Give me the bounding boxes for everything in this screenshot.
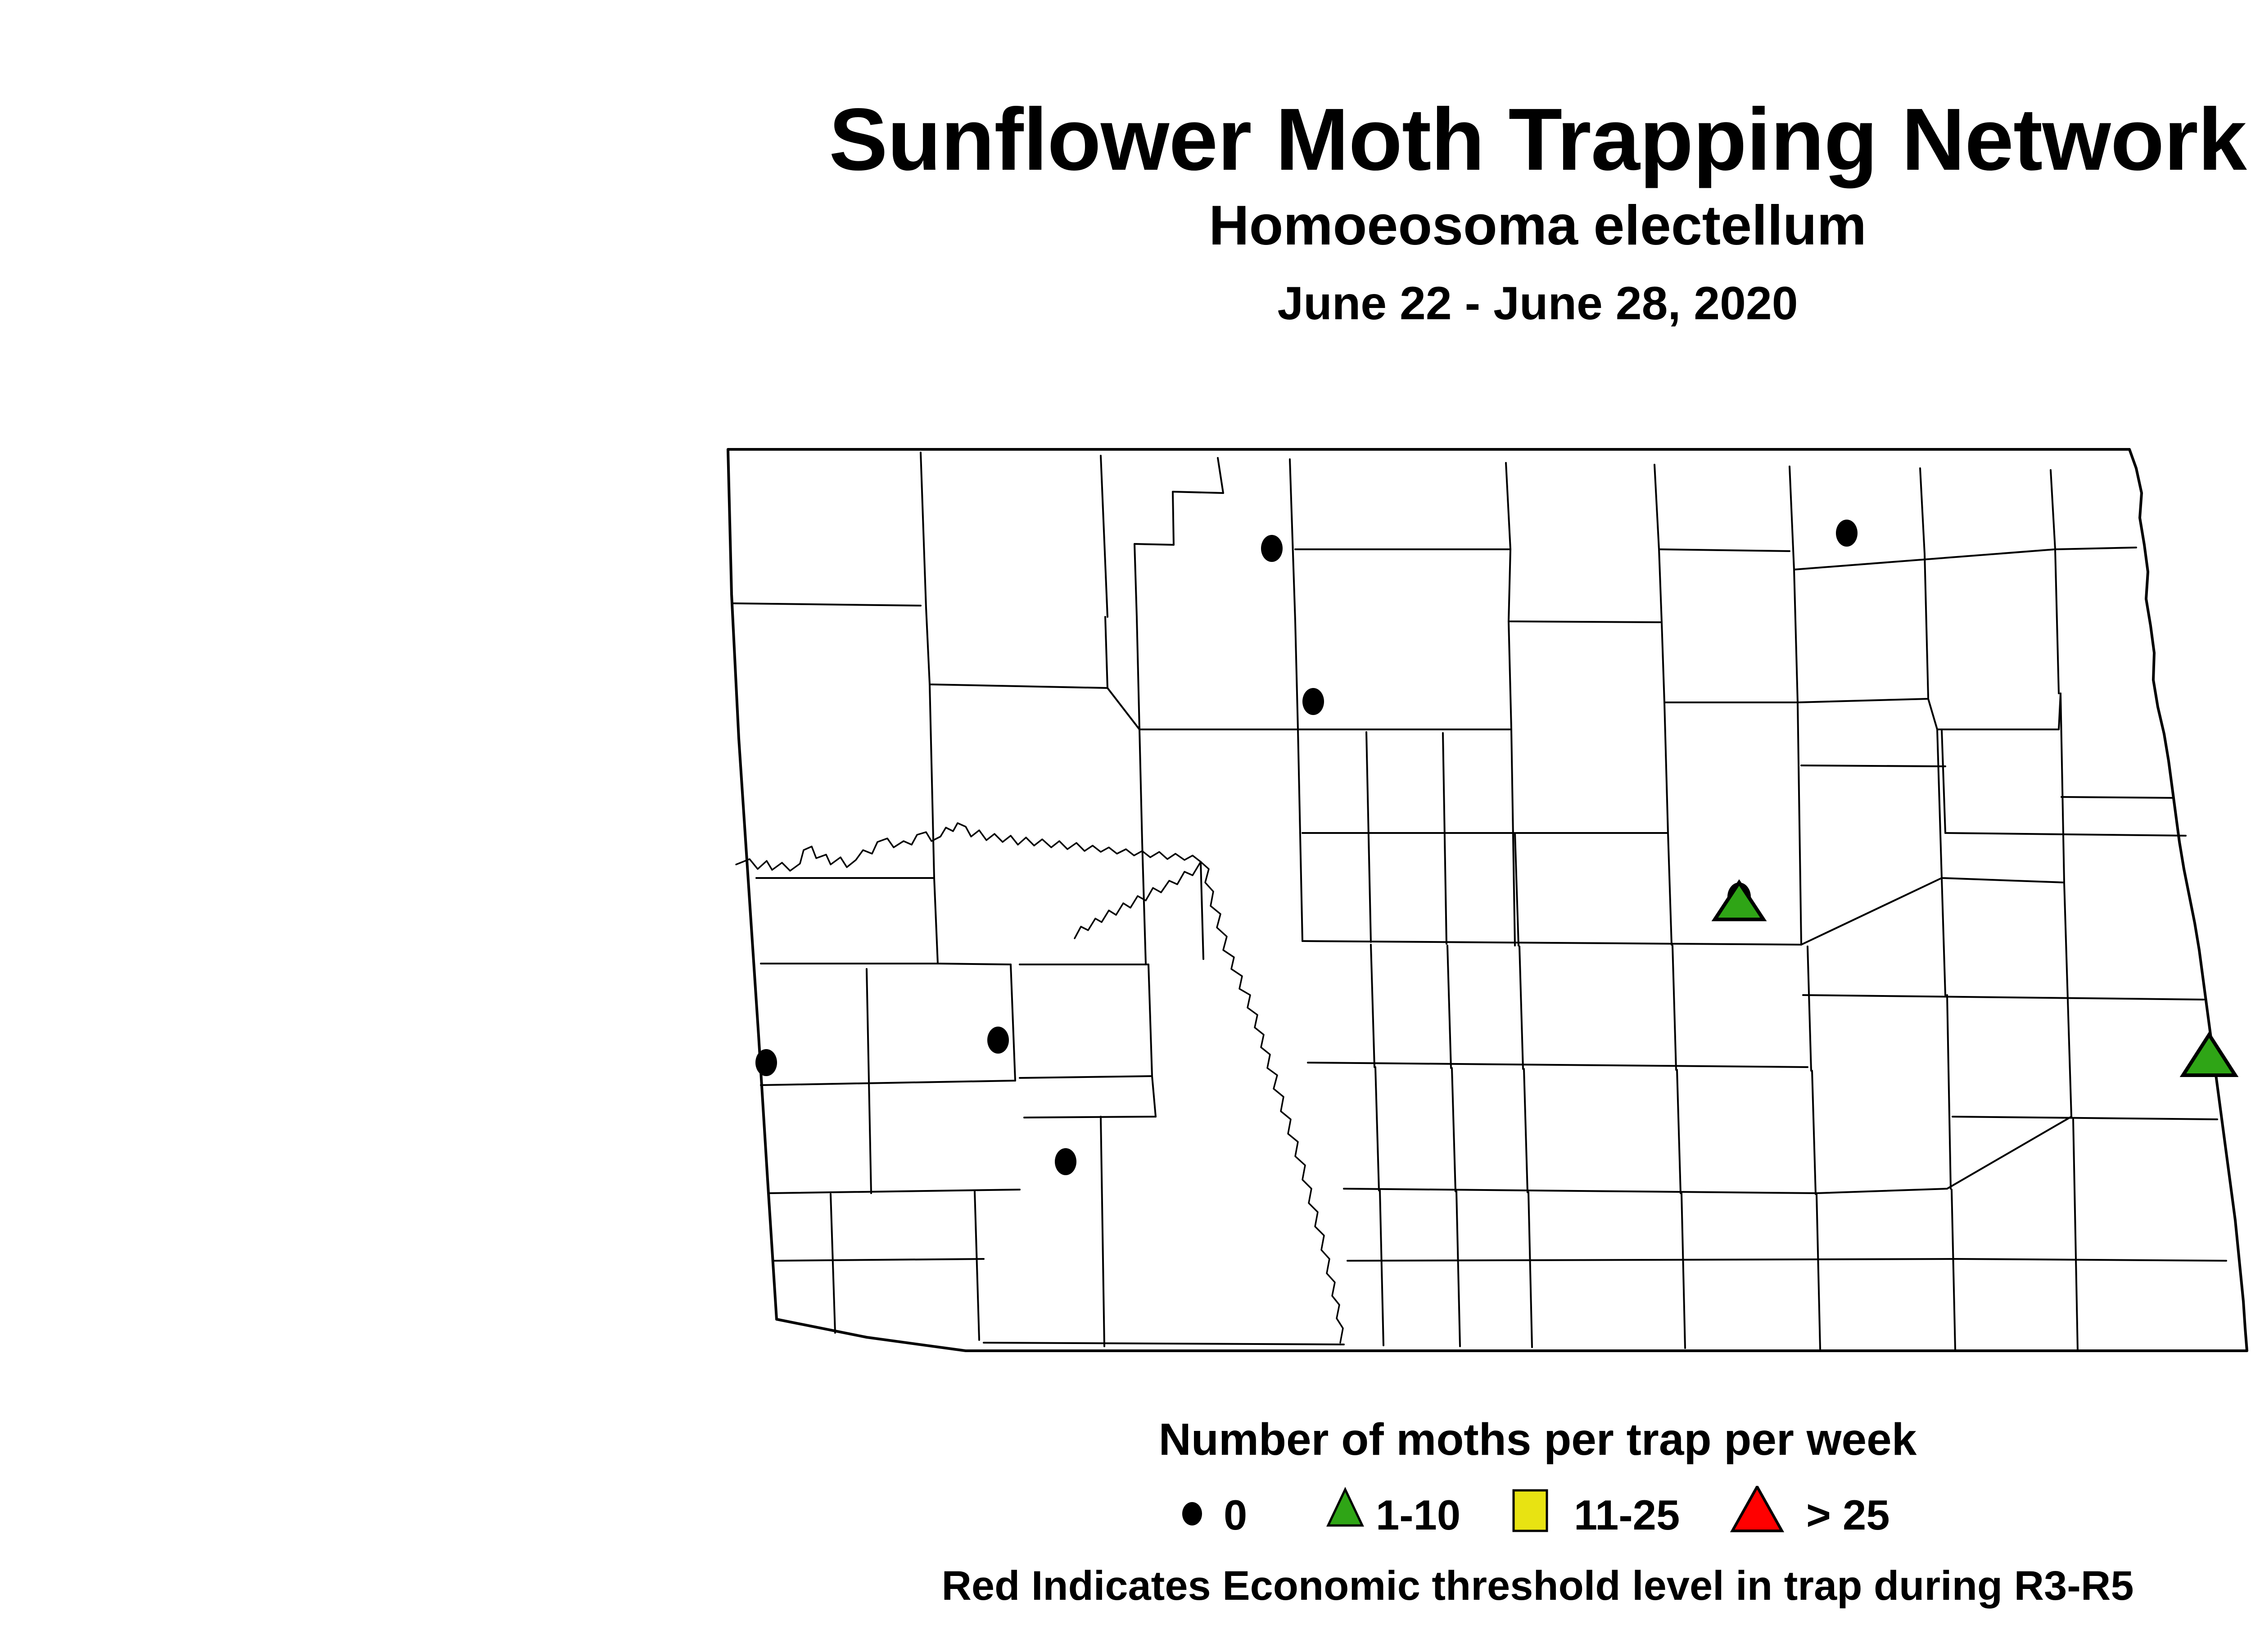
county-line: [1817, 1117, 2071, 1193]
legend-triangle-red-icon: [1732, 1487, 1782, 1531]
legend-heading: Number of moths per trap per week: [0, 1414, 2251, 1466]
legend-label-11-25: 11-25: [1574, 1494, 1680, 1536]
county-line: [1942, 729, 1945, 833]
county-line: [1928, 693, 2061, 729]
county-line: [1528, 1192, 1532, 1347]
map-marker-circle[interactable]: [1261, 535, 1283, 562]
county-line: [1920, 468, 1925, 554]
county-line: [1344, 1189, 1817, 1193]
county-line: [1798, 702, 1801, 945]
map-marker-triangle[interactable]: [1715, 883, 1763, 919]
county-line: [1298, 729, 1302, 941]
county-line: [1519, 946, 1523, 1069]
county-line: [734, 603, 921, 606]
map-marker-circle[interactable]: [1302, 688, 1324, 715]
county-line: [1295, 621, 1298, 729]
county-line: [1101, 456, 1107, 617]
legend-circle-icon: [1182, 1502, 1202, 1525]
county-line: [1808, 946, 1811, 1071]
county-line: [1509, 621, 1511, 729]
title-block: Sunflower Moth Trapping Network Homoeoso…: [0, 95, 2251, 328]
county-line: [1447, 946, 1451, 1068]
species-subtitle: Homoeosoma electellum: [0, 196, 2251, 255]
county-line: [774, 1259, 984, 1261]
county-line: [1152, 1076, 1156, 1117]
county-line: [1201, 862, 1203, 959]
county-line: [1668, 833, 1672, 945]
county-line: [1672, 946, 1676, 1070]
county-line: [1794, 548, 2136, 570]
county-line: [1366, 732, 1371, 942]
county-line: [1011, 964, 1015, 1081]
county-line: [1456, 1191, 1460, 1346]
missouri-river: [1201, 862, 1343, 1343]
county-line: [1308, 1063, 1808, 1067]
poster-canvas: Sunflower Moth Trapping Network Homoeoso…: [0, 0, 2251, 1652]
county-line: [1803, 995, 2204, 1000]
legend-label-1-10: 1-10: [1376, 1494, 1460, 1536]
county-line: [1801, 878, 2064, 945]
county-line: [1142, 842, 1146, 964]
county-line: [2073, 1119, 2078, 1351]
map-marker-circle[interactable]: [755, 1049, 777, 1076]
legend-square-yellow-icon: [1514, 1490, 1547, 1531]
county-line: [1947, 995, 1951, 1189]
county-line: [761, 1081, 1015, 1085]
lake-sakakawea-north: [736, 823, 1201, 871]
county-line: [1452, 1068, 1455, 1191]
county-line: [761, 964, 1011, 964]
county-line: [1794, 570, 1798, 702]
county-line: [1662, 622, 1664, 702]
county-line: [1443, 733, 1446, 944]
county-line: [2061, 797, 2172, 798]
county-line: [1677, 1070, 1681, 1193]
map-marker-circle[interactable]: [1055, 1148, 1076, 1175]
county-line: [1790, 466, 1794, 570]
county-line: [1347, 1259, 2226, 1261]
county-line: [1101, 1117, 1104, 1346]
county-line: [975, 1191, 979, 1340]
county-boundaries: [728, 449, 2247, 1351]
county-line: [1681, 1193, 1685, 1348]
county-line: [1024, 1117, 1156, 1118]
county-line: [867, 969, 871, 1193]
river-branch: [1075, 862, 1201, 938]
county-line: [1302, 941, 1801, 945]
county-line: [2051, 470, 2055, 549]
date-range-label: June 22 - June 28, 2020: [0, 279, 2251, 328]
county-line: [1107, 688, 1139, 729]
county-line: [934, 878, 938, 964]
state-outline: [728, 449, 2247, 1351]
county-line: [1664, 699, 1928, 702]
county-line: [1654, 465, 1659, 549]
county-line: [2068, 1000, 2071, 1117]
county-line: [930, 684, 934, 878]
map-svg: [696, 414, 2251, 1369]
county-line: [921, 453, 926, 608]
county-line: [1020, 1076, 1152, 1078]
county-line: [1135, 458, 1223, 617]
county-line: [1942, 878, 1945, 995]
county-line: [1937, 729, 1942, 878]
county-line: [1371, 945, 1374, 1067]
county-line: [1952, 1190, 1955, 1350]
county-line: [1925, 554, 1928, 698]
county-line: [1139, 729, 1142, 842]
legend-footnote: Red Indicates Economic threshold level i…: [0, 1562, 2251, 1610]
map-markers: [755, 520, 2235, 1175]
county-line: [831, 1194, 835, 1333]
county-line: [1524, 1069, 1528, 1192]
legend-label-0: 0: [1224, 1494, 1247, 1536]
county-line: [1945, 833, 2186, 836]
county-line: [1664, 702, 1668, 833]
county-line: [2055, 549, 2059, 693]
county-line: [1380, 1190, 1383, 1345]
county-line: [1506, 463, 1510, 549]
legend-symbols: [0, 1486, 2251, 1562]
county-line: [2064, 883, 2068, 1000]
county-line: [2061, 693, 2064, 883]
county-line: [1812, 1071, 1816, 1194]
legend-row: 0 1-10 11-25 > 25: [0, 1486, 2251, 1562]
county-line: [1817, 1194, 1820, 1349]
county-line: [1659, 549, 1790, 551]
county-line: [770, 1190, 1020, 1193]
county-line: [1137, 617, 1139, 729]
legend-triangle-green-icon: [1328, 1489, 1362, 1525]
page-title: Sunflower Moth Trapping Network: [0, 95, 2251, 185]
county-line: [1509, 549, 1662, 622]
legend-label-over-25: > 25: [1806, 1494, 1890, 1536]
county-line: [984, 1343, 1344, 1344]
map-marker-triangle[interactable]: [2183, 1035, 2235, 1075]
county-line: [1953, 1117, 2217, 1119]
county-line: [1148, 964, 1152, 1076]
county-line: [1801, 765, 1945, 766]
county-line: [1375, 1067, 1379, 1190]
north-dakota-map: [696, 414, 2251, 1369]
map-marker-circle[interactable]: [987, 1027, 1009, 1054]
map-marker-circle[interactable]: [1836, 520, 1858, 547]
county-line: [926, 608, 1107, 688]
county-line: [1290, 459, 1295, 621]
